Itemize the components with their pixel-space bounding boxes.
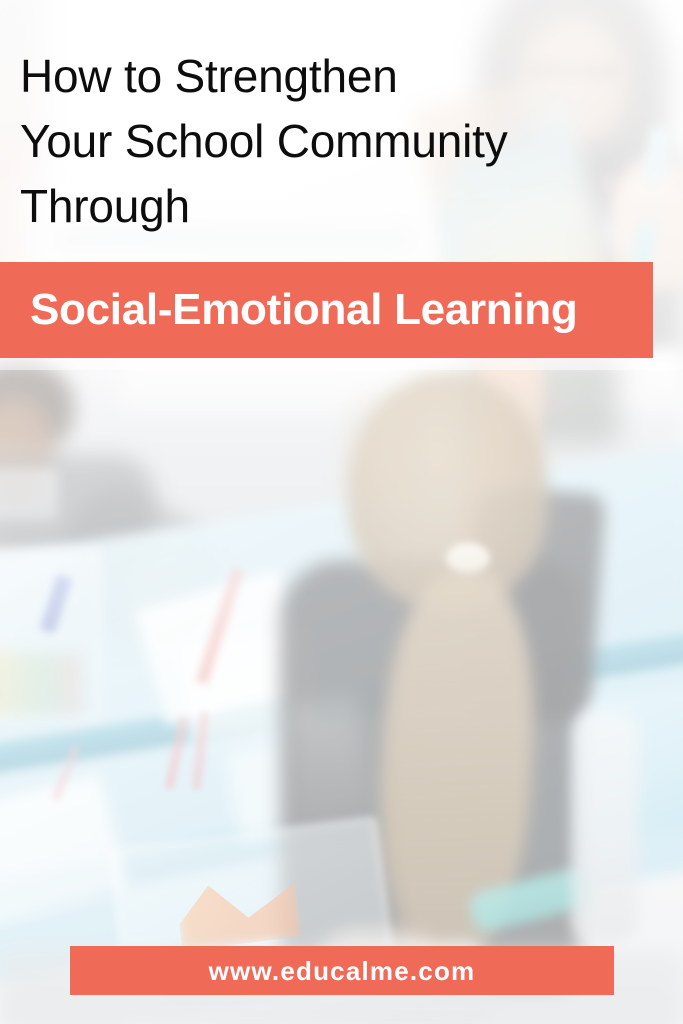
supply-bin-contents — [0, 652, 82, 716]
pinterest-pin-graphic: How to Strengthen Your School Community … — [0, 0, 683, 1024]
chair-back — [572, 712, 638, 942]
pin-headline: How to Strengthen Your School Community … — [20, 44, 580, 239]
hand-fingers — [620, 180, 680, 224]
girl-hair-wisps — [330, 390, 410, 540]
white-hair-tie — [446, 543, 490, 573]
url-banner[interactable]: www.educalme.com — [70, 946, 614, 995]
bulletin-decoration — [540, 390, 566, 414]
website-url-text: www.educalme.com — [209, 958, 476, 984]
boy-shirt-graphic — [0, 468, 58, 520]
title-banner: Social-Emotional Learning — [0, 262, 653, 358]
banner-title-text: Social-Emotional Learning — [30, 288, 577, 332]
